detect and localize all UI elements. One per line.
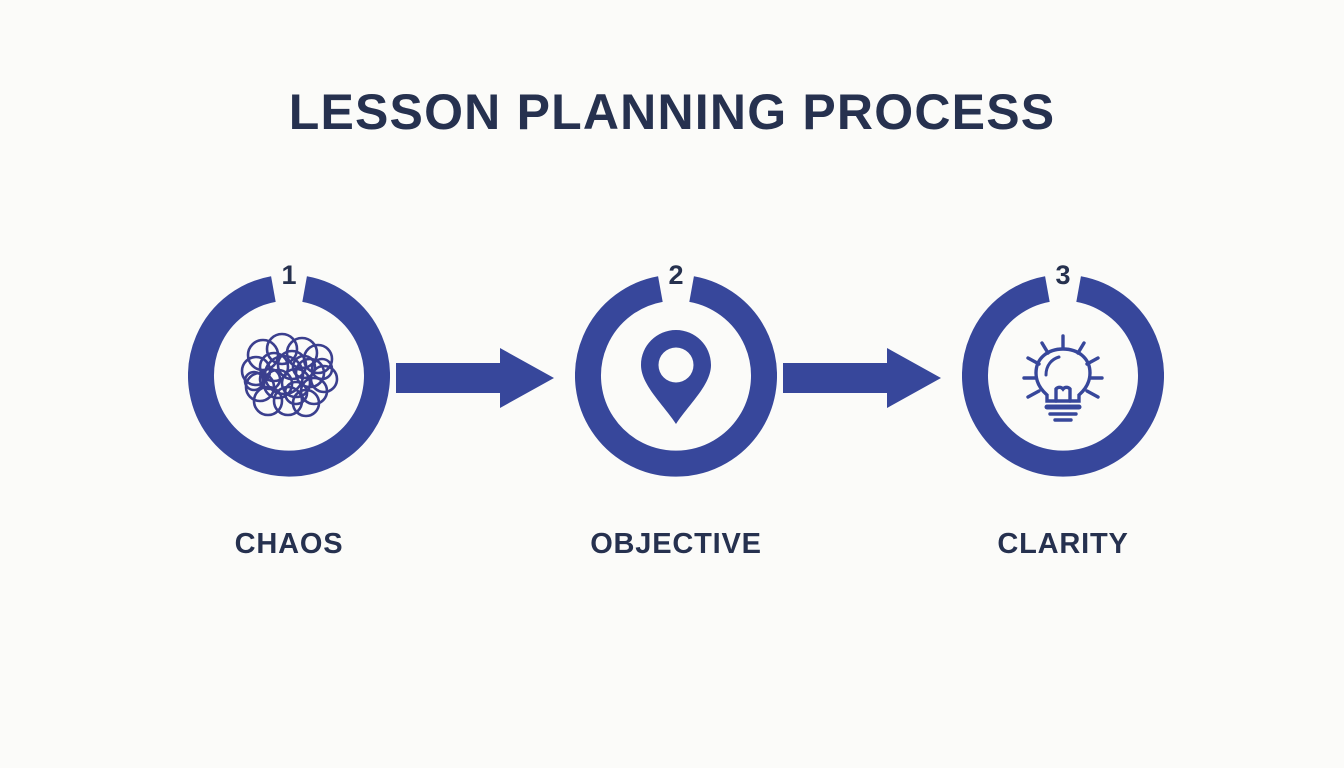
map-pin-icon <box>625 326 727 428</box>
process-step-clarity[interactable]: 3 <box>962 276 1164 478</box>
step-label-chaos: CHAOS <box>129 528 449 561</box>
scribble-tangle-icon <box>238 326 340 428</box>
lesson-planning-process-infographic: LESSON PLANNING PROCESS 1 <box>0 0 1344 768</box>
step-number-2: 2 <box>575 262 777 289</box>
step-label-clarity: CLARITY <box>903 528 1223 561</box>
arrow-right-icon-2 <box>783 344 943 412</box>
step-number-1: 1 <box>188 262 390 289</box>
lightbulb-icon <box>1012 326 1114 428</box>
step-label-objective: OBJECTIVE <box>516 528 836 561</box>
process-steps: 1 <box>0 0 1344 768</box>
step-number-3: 3 <box>962 262 1164 289</box>
process-step-chaos[interactable]: 1 <box>188 276 390 478</box>
process-step-objective[interactable]: 2 <box>575 276 777 478</box>
arrow-right-icon-1 <box>396 344 556 412</box>
